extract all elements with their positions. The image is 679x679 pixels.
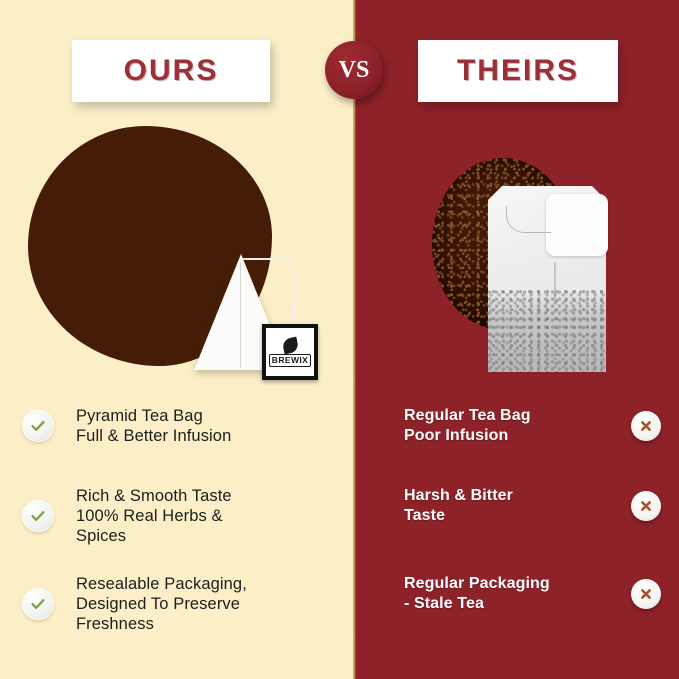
list-item: Harsh & Bitter Taste (356, 486, 679, 526)
tea-bag-crease (554, 262, 556, 302)
theirs-product-image (430, 150, 640, 390)
list-item-text: Regular Packaging - Stale Tea (404, 574, 550, 614)
list-item-line: Designed To Preserve (76, 594, 247, 614)
vs-badge: VS (325, 41, 383, 99)
brand-tag-inner: BREWIX (266, 328, 314, 376)
list-item: Regular Tea Bag Poor Infusion (356, 406, 679, 446)
list-item-text: Harsh & Bitter Taste (404, 486, 513, 526)
list-item-line: Full & Better Infusion (76, 426, 231, 446)
list-item-line: Harsh & Bitter (404, 486, 513, 506)
brand-name-label: BREWIX (269, 354, 311, 367)
list-item-line: Poor Infusion (404, 426, 531, 446)
list-item-line: Spices (76, 526, 232, 546)
list-item-line: - Stale Tea (404, 594, 550, 614)
list-item-text: Resealable Packaging, Designed To Preser… (76, 574, 247, 634)
list-item-line: 100% Real Herbs & (76, 506, 232, 526)
list-item-text: Rich & Smooth Taste 100% Real Herbs & Sp… (76, 486, 232, 546)
brewix-brand-tag: BREWIX (262, 324, 318, 380)
list-item-line: Regular Packaging (404, 574, 550, 594)
tea-bag-fill-texture (488, 290, 606, 372)
ours-product-image: BREWIX (8, 112, 338, 387)
theirs-header-plate: THEIRS (418, 40, 618, 102)
list-item-line: Resealable Packaging, (76, 574, 247, 594)
list-item-line: Rich & Smooth Taste (76, 486, 232, 506)
list-item-line: Pyramid Tea Bag (76, 406, 231, 426)
list-item-line: Regular Tea Bag (404, 406, 531, 426)
list-item: Pyramid Tea Bag Full & Better Infusion (0, 406, 346, 446)
list-item: Resealable Packaging, Designed To Preser… (0, 574, 346, 634)
leaf-icon (281, 336, 299, 354)
tea-bag-paper-tag (546, 194, 608, 256)
tea-bag-thread (506, 206, 551, 233)
list-item: Rich & Smooth Taste 100% Real Herbs & Sp… (0, 486, 346, 546)
cross-icon (631, 411, 661, 441)
vs-label: VS (339, 57, 370, 84)
cross-icon (631, 491, 661, 521)
list-item-line: Taste (404, 506, 513, 526)
check-icon (22, 588, 54, 620)
ours-header-label: OURS (124, 54, 219, 88)
check-icon (22, 500, 54, 532)
list-item-text: Regular Tea Bag Poor Infusion (404, 406, 531, 446)
list-item-text: Pyramid Tea Bag Full & Better Infusion (76, 406, 231, 446)
pyramid-seam (240, 262, 241, 368)
ours-header-plate: OURS (72, 40, 270, 102)
comparison-infographic: OURS VS THEIRS BREWIX (0, 0, 679, 679)
cross-icon (631, 579, 661, 609)
list-item: Regular Packaging - Stale Tea (356, 574, 679, 614)
theirs-header-label: THEIRS (457, 54, 579, 88)
check-icon (22, 410, 54, 442)
list-item-line: Freshness (76, 614, 247, 634)
